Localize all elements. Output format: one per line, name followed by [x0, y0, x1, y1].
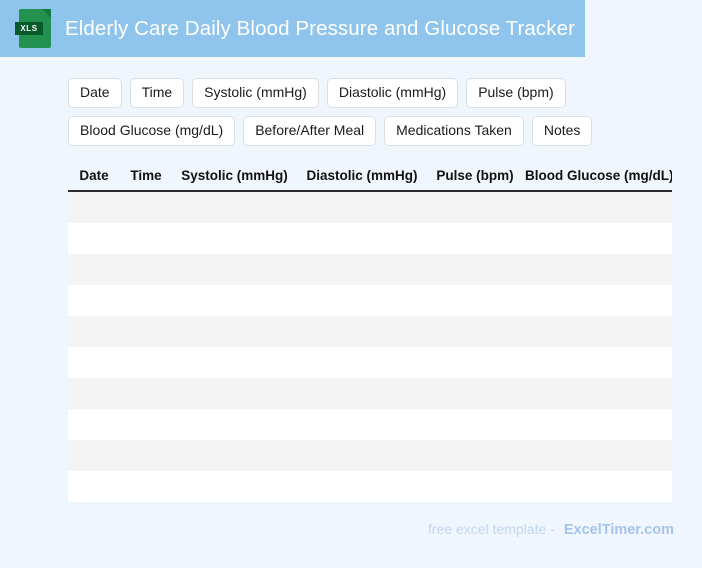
table-cell[interactable]: [172, 378, 297, 409]
table-row[interactable]: [68, 316, 672, 347]
table-cell[interactable]: [297, 440, 427, 471]
table-cell[interactable]: [297, 285, 427, 316]
table-cell[interactable]: [297, 471, 427, 502]
table-cell[interactable]: [523, 409, 672, 440]
table-row[interactable]: [68, 223, 672, 254]
column-header-time: Time: [120, 164, 172, 191]
table-cell[interactable]: [172, 347, 297, 378]
table-cell[interactable]: [120, 316, 172, 347]
table-row[interactable]: [68, 409, 672, 440]
table-head: Date Time Systolic (mmHg) Diastolic (mmH…: [68, 164, 672, 191]
chip-blood-glucose[interactable]: Blood Glucose (mg/dL): [68, 116, 235, 146]
table-cell[interactable]: [172, 440, 297, 471]
table-cell[interactable]: [68, 471, 120, 502]
footer-brand-link[interactable]: ExcelTimer.com: [564, 522, 674, 538]
table-cell[interactable]: [120, 254, 172, 285]
table-cell[interactable]: [427, 409, 523, 440]
table-cell[interactable]: [297, 378, 427, 409]
column-header-diastolic: Diastolic (mmHg): [297, 164, 427, 191]
tracker-table-wrapper: Date Time Systolic (mmHg) Diastolic (mmH…: [68, 164, 672, 502]
table-cell[interactable]: [120, 440, 172, 471]
table-row[interactable]: [68, 347, 672, 378]
table-row[interactable]: [68, 378, 672, 409]
page-root: XLS Elderly Care Daily Blood Pressure an…: [0, 0, 702, 568]
table-cell[interactable]: [120, 285, 172, 316]
table-row[interactable]: [68, 254, 672, 285]
table-cell[interactable]: [68, 409, 120, 440]
table-cell[interactable]: [297, 347, 427, 378]
table-cell[interactable]: [523, 254, 672, 285]
table-cell[interactable]: [120, 347, 172, 378]
table-cell[interactable]: [523, 378, 672, 409]
chip-notes[interactable]: Notes: [532, 116, 593, 146]
chip-before-after-meal[interactable]: Before/After Meal: [243, 116, 376, 146]
column-header-systolic: Systolic (mmHg): [172, 164, 297, 191]
table-row[interactable]: [68, 440, 672, 471]
table-row[interactable]: [68, 285, 672, 316]
table-cell[interactable]: [172, 285, 297, 316]
table-cell[interactable]: [172, 191, 297, 223]
footer: free excel template - ExcelTimer.com: [428, 521, 674, 538]
table-cell[interactable]: [523, 223, 672, 254]
table-cell[interactable]: [297, 191, 427, 223]
table-cell[interactable]: [68, 440, 120, 471]
table-cell[interactable]: [523, 285, 672, 316]
table-cell[interactable]: [120, 223, 172, 254]
table-cell[interactable]: [172, 223, 297, 254]
table-header-row: Date Time Systolic (mmHg) Diastolic (mmH…: [68, 164, 672, 191]
table-cell[interactable]: [427, 223, 523, 254]
page-title: Elderly Care Daily Blood Pressure and Gl…: [65, 17, 575, 41]
table-cell[interactable]: [68, 223, 120, 254]
table-cell[interactable]: [427, 440, 523, 471]
table-cell[interactable]: [427, 316, 523, 347]
table-cell[interactable]: [172, 254, 297, 285]
xls-file-icon: XLS: [19, 9, 51, 48]
table-cell[interactable]: [297, 316, 427, 347]
chip-time[interactable]: Time: [130, 78, 185, 108]
column-header-pulse: Pulse (bpm): [427, 164, 523, 191]
table-cell[interactable]: [68, 191, 120, 223]
table-cell[interactable]: [120, 191, 172, 223]
table-row[interactable]: [68, 471, 672, 502]
table-cell[interactable]: [68, 285, 120, 316]
chip-pulse[interactable]: Pulse (bpm): [466, 78, 565, 108]
table-cell[interactable]: [297, 223, 427, 254]
column-header-blood-glucose: Blood Glucose (mg/dL): [523, 164, 672, 191]
table-cell[interactable]: [172, 409, 297, 440]
table-cell[interactable]: [427, 347, 523, 378]
table-cell[interactable]: [523, 347, 672, 378]
tracker-table: Date Time Systolic (mmHg) Diastolic (mmH…: [68, 164, 672, 502]
xls-icon-badge-label: XLS: [15, 22, 43, 35]
table-cell[interactable]: [523, 440, 672, 471]
xls-icon-fold: [42, 9, 51, 18]
chip-systolic[interactable]: Systolic (mmHg): [192, 78, 319, 108]
table-cell[interactable]: [523, 191, 672, 223]
footer-free-text: free excel template -: [428, 521, 555, 537]
table-cell[interactable]: [427, 254, 523, 285]
table-cell[interactable]: [427, 471, 523, 502]
table-cell[interactable]: [427, 285, 523, 316]
table-body: [68, 191, 672, 502]
table-cell[interactable]: [68, 254, 120, 285]
column-chip-list: Date Time Systolic (mmHg) Diastolic (mmH…: [68, 78, 628, 146]
header-bar: XLS Elderly Care Daily Blood Pressure an…: [0, 0, 585, 57]
table-cell[interactable]: [68, 316, 120, 347]
table-cell[interactable]: [297, 254, 427, 285]
table-cell[interactable]: [120, 409, 172, 440]
column-header-date: Date: [68, 164, 120, 191]
chip-diastolic[interactable]: Diastolic (mmHg): [327, 78, 458, 108]
table-cell[interactable]: [68, 378, 120, 409]
chip-medications-taken[interactable]: Medications Taken: [384, 116, 524, 146]
table-cell[interactable]: [172, 471, 297, 502]
chip-date[interactable]: Date: [68, 78, 122, 108]
table-cell[interactable]: [297, 409, 427, 440]
table-cell[interactable]: [120, 378, 172, 409]
table-cell[interactable]: [427, 378, 523, 409]
table-cell[interactable]: [427, 191, 523, 223]
table-cell[interactable]: [523, 471, 672, 502]
table-row[interactable]: [68, 191, 672, 223]
table-cell[interactable]: [68, 347, 120, 378]
table-cell[interactable]: [120, 471, 172, 502]
table-cell[interactable]: [523, 316, 672, 347]
table-cell[interactable]: [172, 316, 297, 347]
